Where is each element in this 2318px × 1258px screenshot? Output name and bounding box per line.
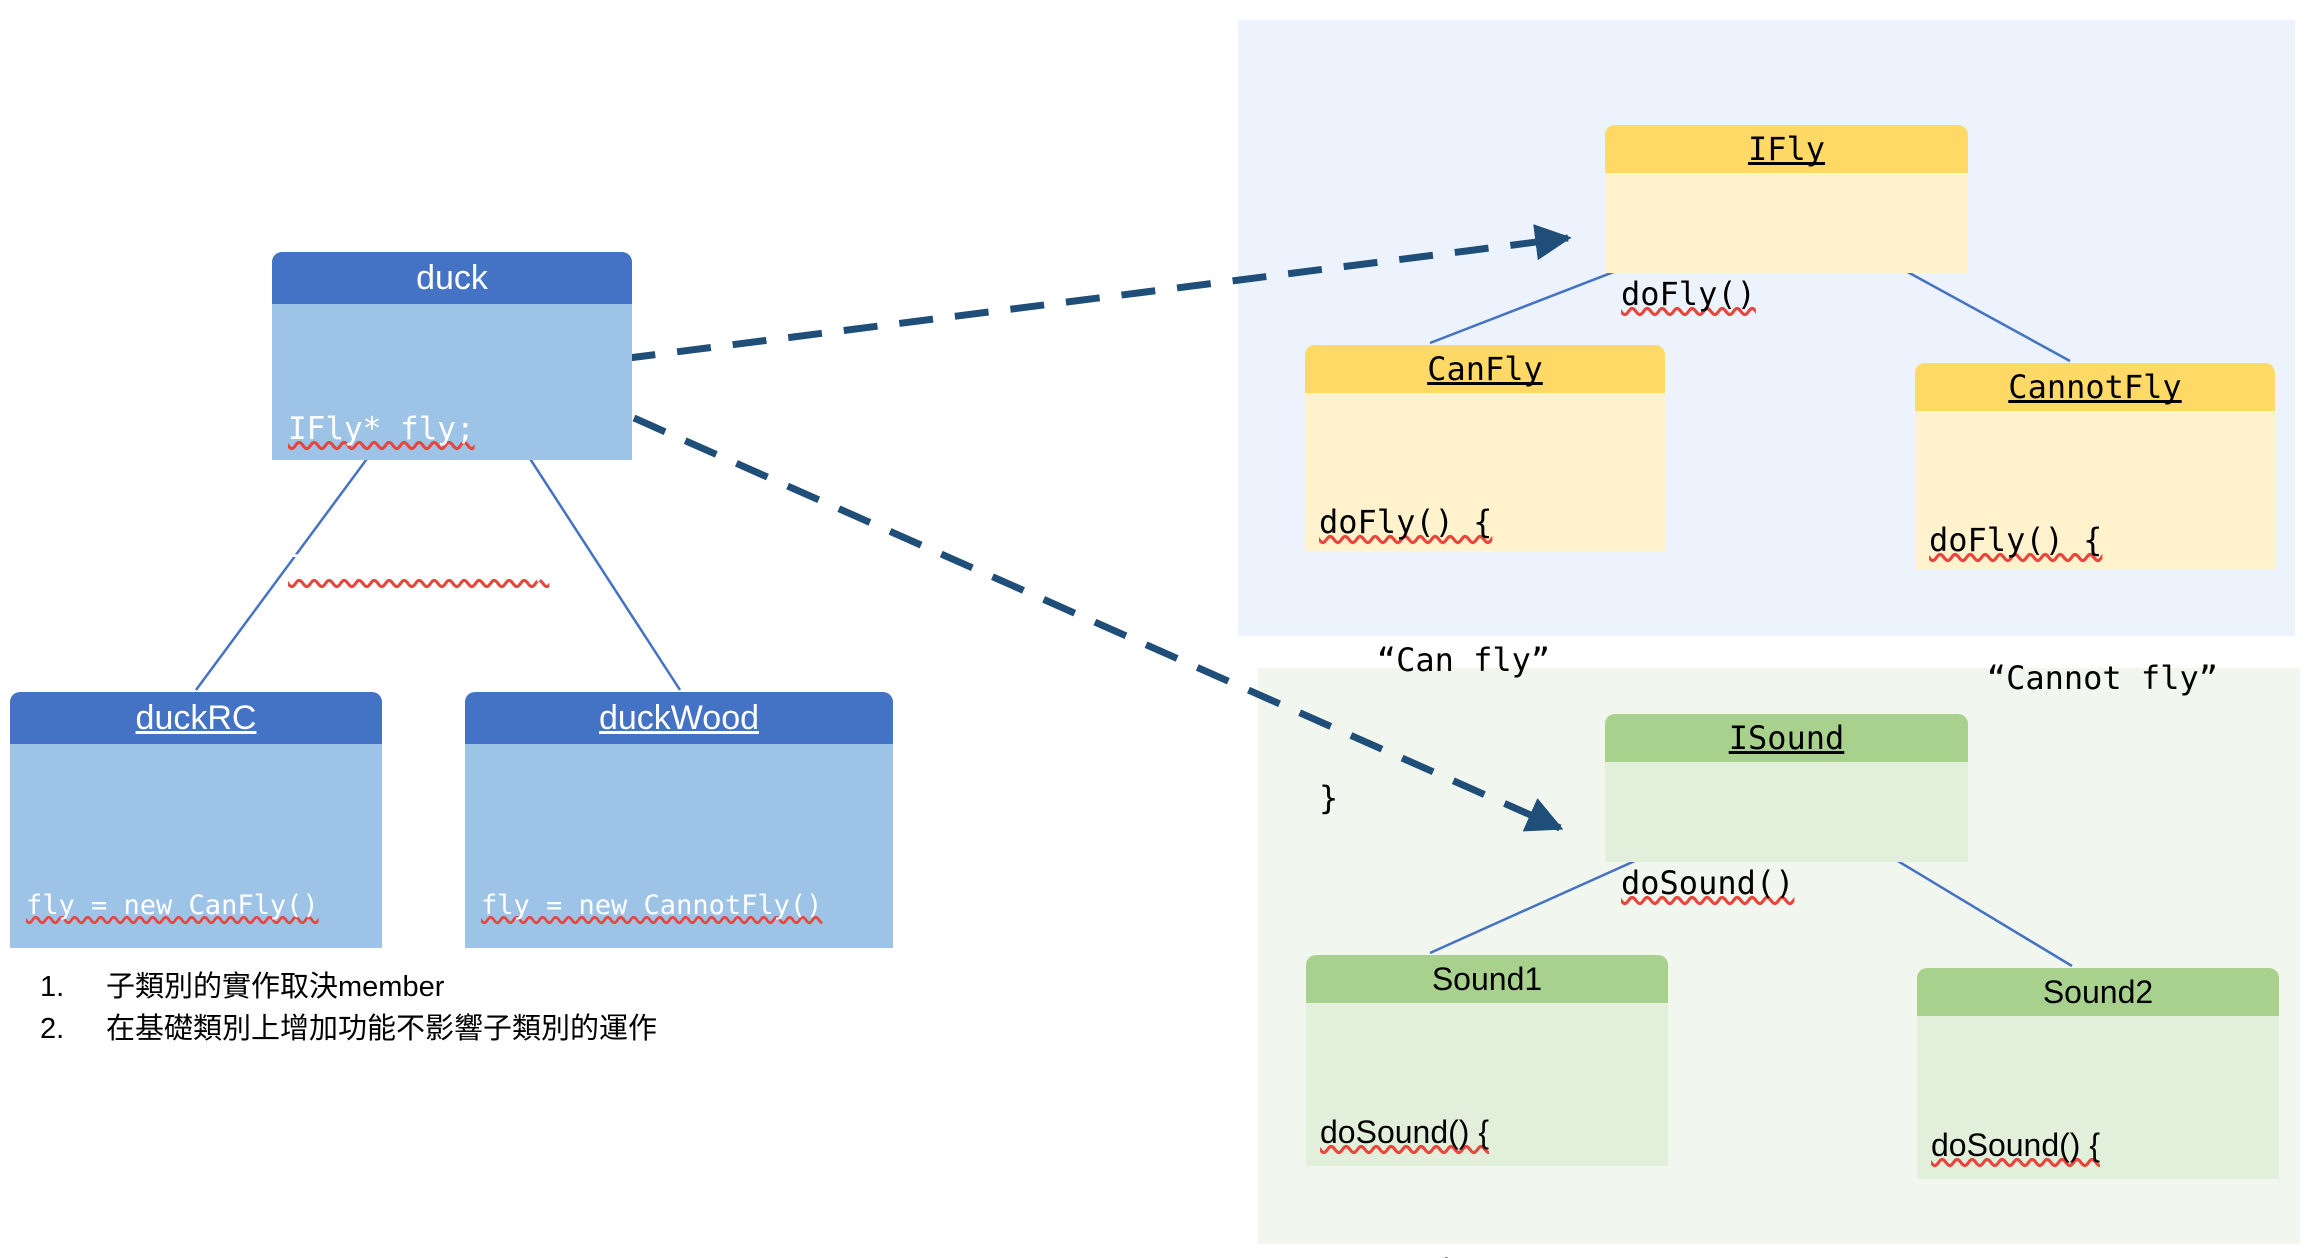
member-row: … <box>1621 998 1952 1044</box>
class-body-ifly: doFly() … <box>1605 173 1968 273</box>
class-header-sound2: Sound2 <box>1917 968 2279 1016</box>
class-body-duckrc: fly = new CanFly() <box>10 744 382 948</box>
member-row: doFly() { <box>1929 517 2261 563</box>
class-body-duck: IFly* fly; Isound* sound; … <box>272 304 632 460</box>
member-row: Isound* sound; <box>288 544 616 590</box>
notes-list: 1. 子類別的實作取決member 2. 在基礎類別上增加功能不影響子類別的運作 <box>40 966 800 1050</box>
member-row: doSound() { <box>1320 1109 1654 1155</box>
class-header-duck: duck <box>272 252 632 304</box>
member-row: fly = new CannotFly() <box>481 888 877 924</box>
note-text: 子類別的實作取決member <box>106 966 444 1008</box>
note-number: 1. <box>40 966 106 1008</box>
list-item: 1. 子類別的實作取決member <box>40 966 800 1008</box>
member-row: doSound() <box>1621 860 1952 906</box>
class-header-isound: ISound <box>1605 714 1968 762</box>
member-row: “Cannot fly” <box>1929 655 2261 701</box>
class-box-ifly[interactable]: IFly doFly() … <box>1605 125 1968 173</box>
member-row: } <box>1319 775 1651 821</box>
class-box-duckwood[interactable]: duckWood fly = new CannotFly() <box>465 692 893 746</box>
class-box-canfly[interactable]: CanFly doFly() { “Can fly” } <box>1305 345 1665 393</box>
member-row: doSound() { <box>1931 1122 2265 1168</box>
member-row: “Can fly” <box>1319 637 1651 683</box>
class-body-canfly: doFly() { “Can fly” } <box>1305 393 1665 551</box>
note-number: 2. <box>40 1008 106 1050</box>
class-box-isound[interactable]: ISound doSound() … <box>1605 714 1968 762</box>
class-header-sound1: Sound1 <box>1306 955 1668 1003</box>
class-body-cannotfly: doFly() { “Cannot fly” } <box>1915 411 2275 569</box>
member-row: doFly() <box>1621 271 1952 317</box>
class-header-duckrc: duckRC <box>10 692 382 744</box>
class-body-duckwood: fly = new CannotFly() <box>465 744 893 948</box>
class-header-canfly: CanFly <box>1305 345 1665 393</box>
member-row: … <box>1621 409 1952 455</box>
note-text: 在基礎類別上增加功能不影響子類別的運作 <box>106 1008 657 1050</box>
member-row: fly = new CanFly() <box>26 888 366 924</box>
class-header-duckwood: duckWood <box>465 692 893 744</box>
class-box-duckrc[interactable]: duckRC fly = new CanFly() <box>10 692 382 746</box>
member-row: IFly* fly; <box>288 406 616 452</box>
member-row: “Sound1” <box>1320 1247 1654 1258</box>
list-item: 2. 在基礎類別上增加功能不影響子類別的運作 <box>40 1008 800 1050</box>
class-box-duck[interactable]: duck IFly* fly; Isound* sound; … <box>272 252 632 346</box>
member-row: } <box>1929 793 2261 839</box>
class-body-sound1: doSound() { “Sound1” } <box>1306 1003 1668 1166</box>
class-header-ifly: IFly <box>1605 125 1968 173</box>
diagram-canvas: duck IFly* fly; Isound* sound; … duckRC … <box>0 0 2318 1258</box>
class-body-sound2: doSound() { “Sound2” } <box>1917 1016 2279 1179</box>
class-body-isound: doSound() … <box>1605 762 1968 862</box>
class-box-cannotfly[interactable]: CannotFly doFly() { “Cannot fly” } <box>1915 363 2275 411</box>
member-row: doFly() { <box>1319 499 1651 545</box>
class-box-sound1[interactable]: Sound1 doSound() { “Sound1” } <box>1306 955 1668 1003</box>
class-header-cannotfly: CannotFly <box>1915 363 2275 411</box>
class-box-sound2[interactable]: Sound2 doSound() { “Sound2” } <box>1917 968 2279 1016</box>
